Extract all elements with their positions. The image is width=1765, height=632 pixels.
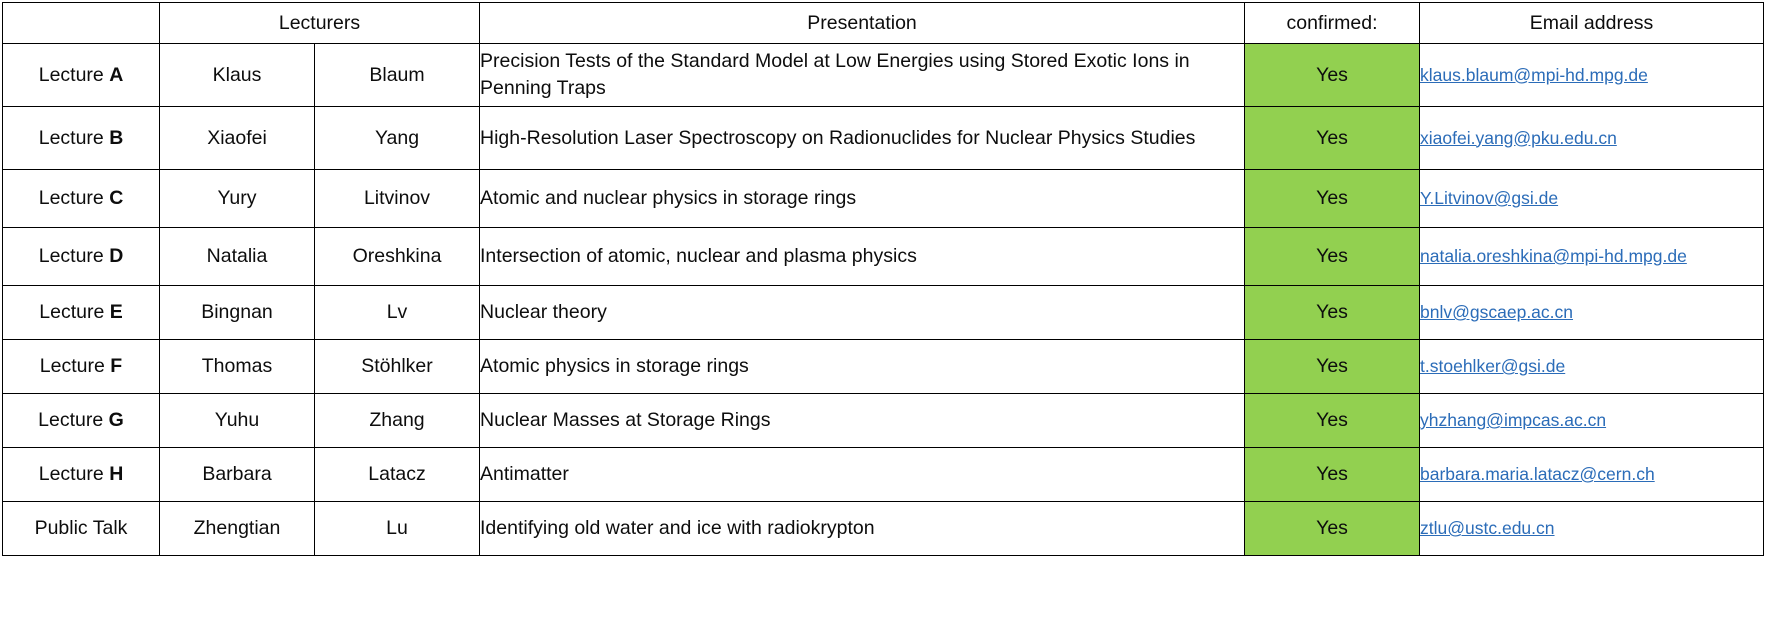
email-address-cell: xiaofei.yang@pku.edu.cn bbox=[1420, 107, 1764, 170]
table-row: Lecture EBingnanLvNuclear theoryYesbnlv@… bbox=[3, 286, 1764, 340]
lecture-label-letter: E bbox=[110, 301, 123, 323]
presentation-title: Atomic physics in storage rings bbox=[480, 340, 1245, 394]
header-email-address: Email address bbox=[1420, 3, 1764, 44]
lecturer-last-name: Litvinov bbox=[315, 170, 480, 228]
email-link[interactable]: bnlv@gscaep.ac.cn bbox=[1420, 302, 1573, 322]
lecture-label-letter: G bbox=[109, 409, 124, 431]
header-lecturers: Lecturers bbox=[160, 3, 480, 44]
lecturer-first-name: Yuhu bbox=[160, 394, 315, 448]
lecture-label-letter: H bbox=[109, 463, 123, 485]
lecture-label-prefix: Lecture bbox=[39, 187, 109, 209]
email-link[interactable]: Y.Litvinov@gsi.de bbox=[1420, 188, 1558, 208]
lecturers-schedule-table: Lecturers Presentation confirmed: Email … bbox=[2, 2, 1764, 556]
lecture-label-prefix: Lecture bbox=[38, 409, 108, 431]
lecture-label-cell: Lecture C bbox=[3, 170, 160, 228]
email-link[interactable]: ztlu@ustc.edu.cn bbox=[1420, 518, 1555, 538]
table-row: Lecture HBarbaraLataczAntimatterYesbarba… bbox=[3, 448, 1764, 502]
lecture-label-letter: B bbox=[109, 127, 123, 149]
email-link[interactable]: natalia.oreshkina@mpi-hd.mpg.de bbox=[1420, 246, 1687, 266]
lecturer-first-name: Thomas bbox=[160, 340, 315, 394]
presentation-title: Nuclear theory bbox=[480, 286, 1245, 340]
table-row: Public TalkZhengtianLuIdentifying old wa… bbox=[3, 502, 1764, 556]
lecture-label-cell: Lecture A bbox=[3, 44, 160, 107]
lecture-label-cell: Lecture D bbox=[3, 228, 160, 286]
confirmed-status-badge: Yes bbox=[1245, 502, 1420, 556]
presentation-title: Antimatter bbox=[480, 448, 1245, 502]
lecturer-last-name: Stöhlker bbox=[315, 340, 480, 394]
email-link[interactable]: barbara.maria.latacz@cern.ch bbox=[1420, 464, 1655, 484]
presentation-title: Atomic and nuclear physics in storage ri… bbox=[480, 170, 1245, 228]
presentation-title: Identifying old water and ice with radio… bbox=[480, 502, 1245, 556]
lecture-label-letter: A bbox=[109, 64, 123, 86]
lecture-label-prefix: Lecture bbox=[39, 64, 109, 86]
table-body: Lecture AKlausBlaumPrecision Tests of th… bbox=[3, 44, 1764, 556]
presentation-title: High-Resolution Laser Spectroscopy on Ra… bbox=[480, 107, 1245, 170]
lecturer-first-name: Barbara bbox=[160, 448, 315, 502]
lecturer-first-name: Bingnan bbox=[160, 286, 315, 340]
email-link[interactable]: t.stoehlker@gsi.de bbox=[1420, 356, 1565, 376]
confirmed-status-badge: Yes bbox=[1245, 448, 1420, 502]
lecturer-first-name: Yury bbox=[160, 170, 315, 228]
table-row: Lecture CYuryLitvinovAtomic and nuclear … bbox=[3, 170, 1764, 228]
lecturer-last-name: Zhang bbox=[315, 394, 480, 448]
lecturer-first-name: Klaus bbox=[160, 44, 315, 107]
lecture-label-letter: D bbox=[109, 245, 123, 267]
lecturer-last-name: Lv bbox=[315, 286, 480, 340]
presentation-title: Nuclear Masses at Storage Rings bbox=[480, 394, 1245, 448]
confirmed-status-badge: Yes bbox=[1245, 107, 1420, 170]
email-address-cell: t.stoehlker@gsi.de bbox=[1420, 340, 1764, 394]
header-blank bbox=[3, 3, 160, 44]
email-link[interactable]: klaus.blaum@mpi-hd.mpg.de bbox=[1420, 65, 1648, 85]
confirmed-status-badge: Yes bbox=[1245, 340, 1420, 394]
table-row: Lecture GYuhuZhangNuclear Masses at Stor… bbox=[3, 394, 1764, 448]
lecturer-last-name: Yang bbox=[315, 107, 480, 170]
email-address-cell: Y.Litvinov@gsi.de bbox=[1420, 170, 1764, 228]
lecture-label-prefix: Lecture bbox=[39, 245, 109, 267]
lecturer-first-name: Xiaofei bbox=[160, 107, 315, 170]
table-header-row: Lecturers Presentation confirmed: Email … bbox=[3, 3, 1764, 44]
lecture-label-letter: F bbox=[110, 355, 122, 377]
confirmed-status-badge: Yes bbox=[1245, 44, 1420, 107]
lecturer-last-name: Oreshkina bbox=[315, 228, 480, 286]
table-row: Lecture BXiaofeiYangHigh-Resolution Lase… bbox=[3, 107, 1764, 170]
confirmed-status-badge: Yes bbox=[1245, 394, 1420, 448]
email-link[interactable]: xiaofei.yang@pku.edu.cn bbox=[1420, 128, 1617, 148]
lecture-label-letter: C bbox=[109, 187, 123, 209]
presentation-title: Precision Tests of the Standard Model at… bbox=[480, 44, 1245, 107]
lecturer-last-name: Latacz bbox=[315, 448, 480, 502]
lecturer-last-name: Lu bbox=[315, 502, 480, 556]
presentation-title: Intersection of atomic, nuclear and plas… bbox=[480, 228, 1245, 286]
email-address-cell: klaus.blaum@mpi-hd.mpg.de bbox=[1420, 44, 1764, 107]
lecture-label-prefix: Lecture bbox=[39, 127, 109, 149]
table-row: Lecture DNataliaOreshkinaIntersection of… bbox=[3, 228, 1764, 286]
lecturer-last-name: Blaum bbox=[315, 44, 480, 107]
table-row: Lecture AKlausBlaumPrecision Tests of th… bbox=[3, 44, 1764, 107]
email-address-cell: ztlu@ustc.edu.cn bbox=[1420, 502, 1764, 556]
email-address-cell: bnlv@gscaep.ac.cn bbox=[1420, 286, 1764, 340]
lecture-label-prefix: Lecture bbox=[40, 355, 110, 377]
confirmed-status-badge: Yes bbox=[1245, 228, 1420, 286]
lecture-label-prefix: Public Talk bbox=[35, 517, 128, 539]
lecture-label-cell: Lecture E bbox=[3, 286, 160, 340]
lecture-label-cell: Public Talk bbox=[3, 502, 160, 556]
header-presentation: Presentation bbox=[480, 3, 1245, 44]
lecture-label-cell: Lecture G bbox=[3, 394, 160, 448]
lecturer-first-name: Natalia bbox=[160, 228, 315, 286]
lecture-label-cell: Lecture F bbox=[3, 340, 160, 394]
lecture-label-cell: Lecture H bbox=[3, 448, 160, 502]
confirmed-status-badge: Yes bbox=[1245, 286, 1420, 340]
lecture-label-prefix: Lecture bbox=[39, 301, 109, 323]
email-address-cell: natalia.oreshkina@mpi-hd.mpg.de bbox=[1420, 228, 1764, 286]
email-address-cell: barbara.maria.latacz@cern.ch bbox=[1420, 448, 1764, 502]
lecture-label-cell: Lecture B bbox=[3, 107, 160, 170]
confirmed-status-badge: Yes bbox=[1245, 170, 1420, 228]
lecture-label-prefix: Lecture bbox=[39, 463, 109, 485]
email-link[interactable]: yhzhang@impcas.ac.cn bbox=[1420, 410, 1606, 430]
lecturer-first-name: Zhengtian bbox=[160, 502, 315, 556]
table-row: Lecture FThomasStöhlkerAtomic physics in… bbox=[3, 340, 1764, 394]
email-address-cell: yhzhang@impcas.ac.cn bbox=[1420, 394, 1764, 448]
header-confirmed: confirmed: bbox=[1245, 3, 1420, 44]
